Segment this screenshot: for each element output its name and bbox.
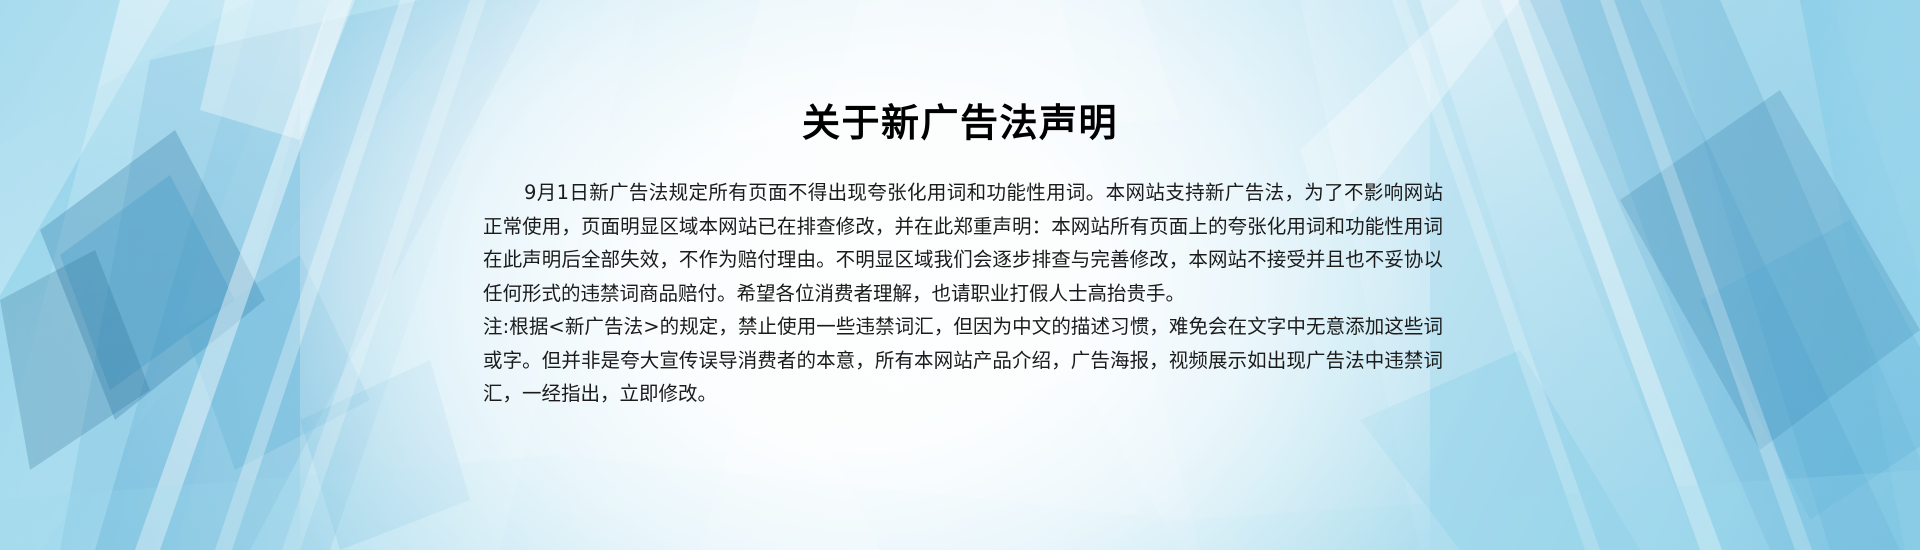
- page-title: 关于新广告法声明: [0, 92, 1920, 147]
- advertising-law-statement-banner: 关于新广告法声明 9月1日新广告法规定所有页面不得出现夸张化用词和功能性用词。本…: [0, 0, 1920, 550]
- statement-content: 关于新广告法声明 9月1日新广告法规定所有页面不得出现夸张化用词和功能性用词。本…: [0, 0, 1920, 550]
- statement-body: 9月1日新广告法规定所有页面不得出现夸张化用词和功能性用词。本网站支持新广告法，…: [483, 176, 1443, 411]
- statement-paragraph-1: 9月1日新广告法规定所有页面不得出现夸张化用词和功能性用词。本网站支持新广告法，…: [483, 176, 1443, 310]
- statement-paragraph-2: 注:根据<新广告法>的规定，禁止使用一些违禁词汇，但因为中文的描述习惯，难免会在…: [483, 310, 1443, 411]
